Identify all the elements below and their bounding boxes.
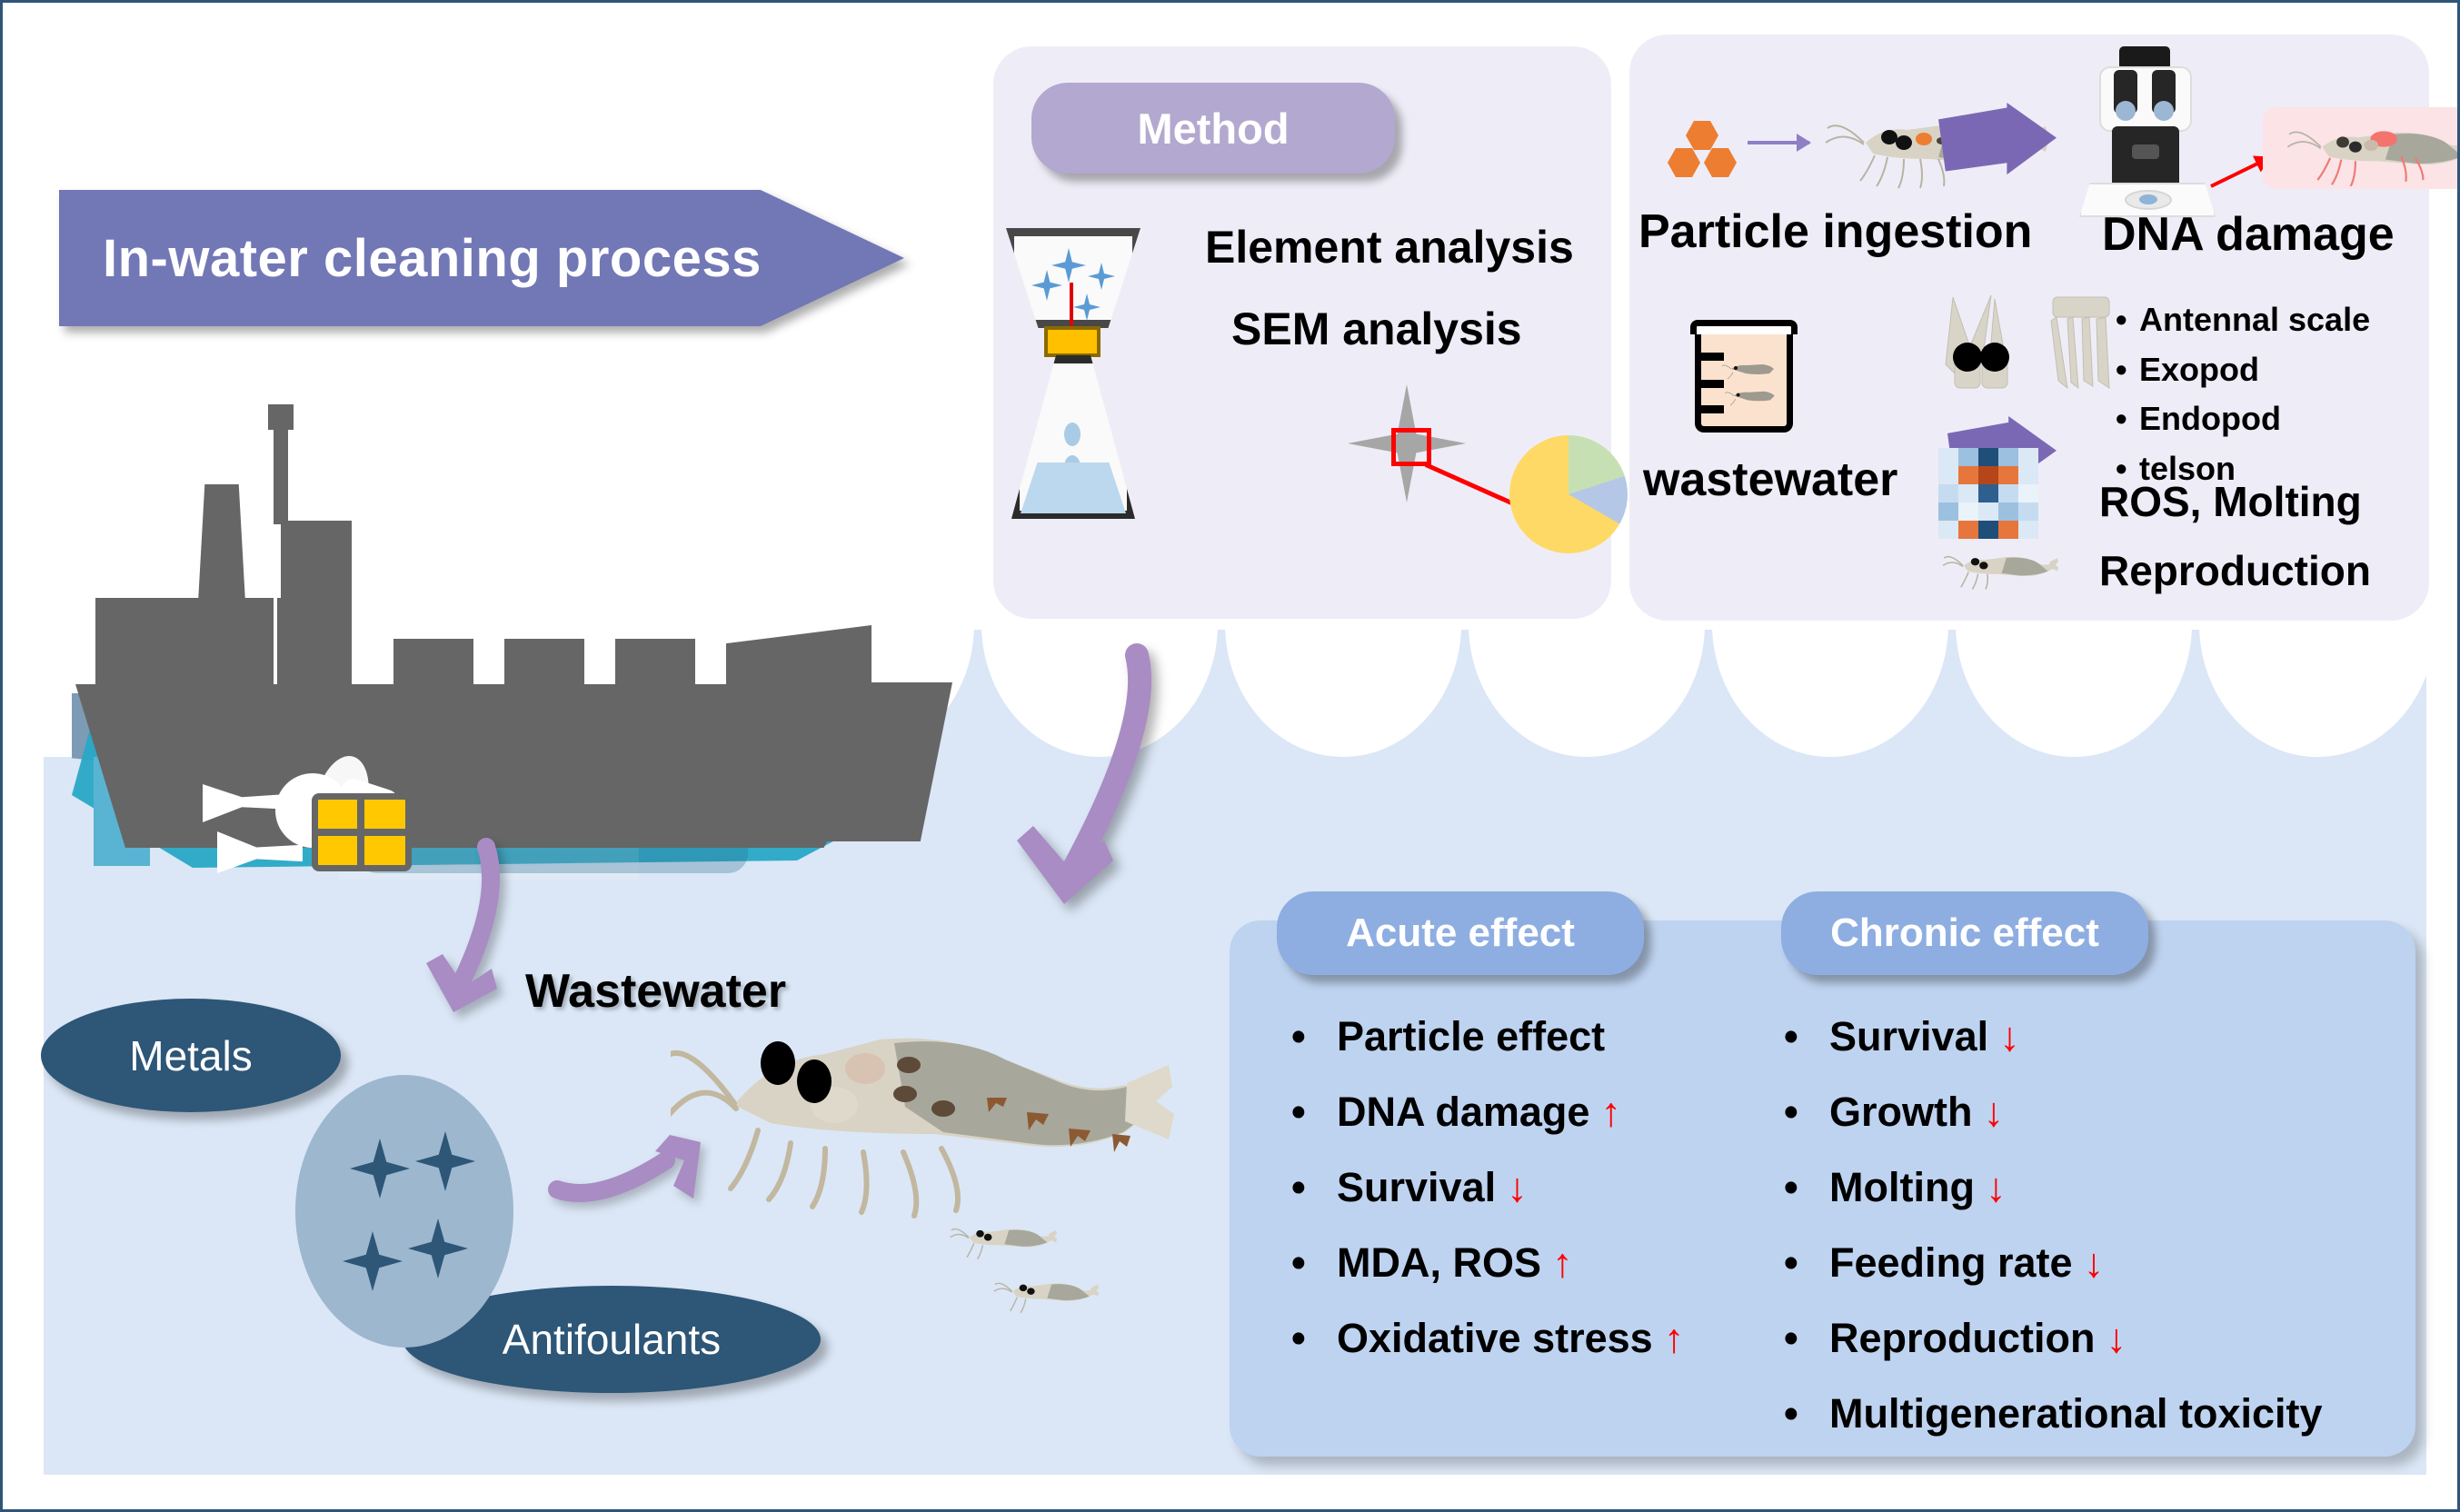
chronic-effect-pill-label: Chronic effect	[1830, 910, 2099, 956]
list-item: • Growth ↓	[1784, 1091, 2334, 1132]
ingestion-arrow-icon	[1748, 141, 1809, 144]
hexagon-particles-icon	[1668, 121, 1738, 184]
list-item: • Reproduction ↓	[1784, 1318, 2334, 1358]
list-item: •Antennal scale	[2116, 295, 2370, 345]
metals-label: Metals	[129, 1031, 252, 1080]
particle-ingestion-label: Particle ingestion	[1638, 204, 2032, 259]
dna-damage-label: DNA damage	[2102, 207, 2395, 262]
cleaning-brush-divider-h	[312, 829, 412, 836]
microscope-specimen-center	[2139, 194, 2157, 204]
wastewater-card-label: wastewater	[1643, 453, 1897, 507]
particle-star-icon	[408, 1219, 468, 1278]
list-item: • Molting ↓	[1784, 1167, 2334, 1208]
list-item: • Oxidative stress ↑	[1291, 1318, 1684, 1358]
heatmap-icon	[1938, 448, 2038, 539]
ship-illustration	[39, 393, 957, 848]
microscope-icon	[2079, 46, 2216, 214]
juvenile-shrimp-icon	[948, 1219, 1057, 1260]
hexagon-particle	[1704, 148, 1737, 177]
element-analysis-label: Element analysis	[1205, 221, 1574, 274]
title-banner-shape: In-water cleaning process	[59, 190, 904, 326]
wave-scallop	[1469, 630, 1705, 757]
sem-roi-box	[1391, 428, 1431, 466]
droplet-icon	[1064, 423, 1081, 446]
graphical-abstract: In-water cleaning process Method	[0, 0, 2460, 1512]
ros-molting-label: ROS, Molting	[2099, 477, 2362, 526]
reproduction-shrimp-icon	[1940, 546, 2058, 590]
list-item: •Endopod	[2116, 394, 2370, 444]
ship-funnel	[198, 484, 245, 602]
ship-deckhouse-2	[277, 598, 352, 689]
list-item: • Survival ↓	[1784, 1016, 2334, 1057]
list-item: • DNA damage ↑	[1291, 1091, 1684, 1132]
ship-deckhouse-1	[95, 598, 274, 689]
microscope-focus-knob	[2132, 144, 2159, 159]
funnel-flask-icon	[1001, 228, 1146, 519]
list-item: •Exopod	[2116, 345, 2370, 395]
wave-scallop	[1712, 630, 1948, 757]
wave-scallop	[1225, 630, 1461, 757]
beaker-graduation	[1700, 405, 1724, 413]
ship-container-3	[615, 639, 695, 690]
method-pill: Method	[1031, 83, 1395, 174]
list-item: • Survival ↓	[1291, 1167, 1684, 1208]
particle-cluster	[295, 1075, 513, 1348]
antifoulants-label: Antifoulants	[503, 1315, 721, 1364]
method-pill-label: Method	[1137, 104, 1289, 154]
acute-effect-pill-label: Acute effect	[1346, 910, 1575, 956]
sem-analysis-illustration	[1348, 384, 1648, 557]
list-item: • Feeding rate ↓	[1784, 1242, 2334, 1283]
chronic-effect-pill: Chronic effect	[1781, 891, 2148, 975]
microscope-lens-right	[2154, 101, 2174, 121]
flask-liquid	[1021, 463, 1126, 513]
beaker-lip	[1690, 320, 1798, 334]
wave-scallop	[1956, 630, 2192, 757]
chronic-effect-list: • Survival ↓ • Growth ↓ • Molting ↓ • Fe…	[1784, 1016, 2334, 1468]
funnel-icon	[1006, 228, 1140, 328]
page-title: In-water cleaning process	[59, 228, 762, 289]
ship-deckhouse-3	[281, 521, 352, 602]
beaker-icon	[1695, 316, 1793, 433]
flow-arrow-to-water-icon	[966, 639, 1175, 975]
ship-container-4	[726, 625, 871, 691]
title-banner: In-water cleaning process	[59, 190, 904, 326]
juvenile-shrimp-icon	[991, 1273, 1099, 1314]
hexagon-particle	[1686, 121, 1718, 150]
damaged-shrimp-icon	[2279, 115, 2460, 186]
morphology-bullet-list: •Antennal scale •Exopod •Endopod •telson	[2116, 295, 2370, 494]
acute-effect-pill: Acute effect	[1277, 891, 1644, 975]
list-item: • Multigenerational toxicity	[1784, 1393, 2334, 1434]
wastewater-arrow-icon	[421, 834, 539, 1043]
pie-chart-icon	[1509, 435, 1628, 553]
list-item: • Particle effect	[1291, 1016, 1684, 1057]
beaker-shrimp-icon	[1720, 360, 1777, 380]
filter-band-icon	[1044, 326, 1101, 357]
ship-mast	[274, 423, 288, 524]
ship-hull	[75, 684, 907, 848]
wave-scallop	[2199, 630, 2426, 757]
reproduction-label: Reproduction	[2099, 546, 2371, 595]
sem-callout-line	[1425, 463, 1519, 507]
particle-star-icon	[343, 1231, 403, 1291]
ship-mast-top	[268, 404, 294, 430]
metals-badge: Metals	[41, 999, 341, 1112]
ship-bow	[807, 682, 952, 841]
microscope-lens-left	[2116, 101, 2136, 121]
list-item: • MDA, ROS ↑	[1291, 1242, 1684, 1283]
ship-container-2	[504, 639, 584, 690]
hexagon-particle	[1668, 148, 1700, 177]
sem-analysis-label: SEM analysis	[1231, 303, 1522, 355]
ship-container-1	[393, 639, 473, 690]
beaker-shrimp-icon	[1724, 387, 1777, 406]
acute-effect-list: • Particle effect • DNA damage ↑ • Survi…	[1291, 1016, 1684, 1393]
particle-star-icon	[415, 1131, 475, 1191]
beaker-graduation	[1700, 380, 1724, 388]
main-shrimp-illustration	[671, 1007, 1180, 1270]
appendage-morphology-icon	[1938, 293, 2129, 421]
particle-star-icon	[350, 1139, 410, 1199]
